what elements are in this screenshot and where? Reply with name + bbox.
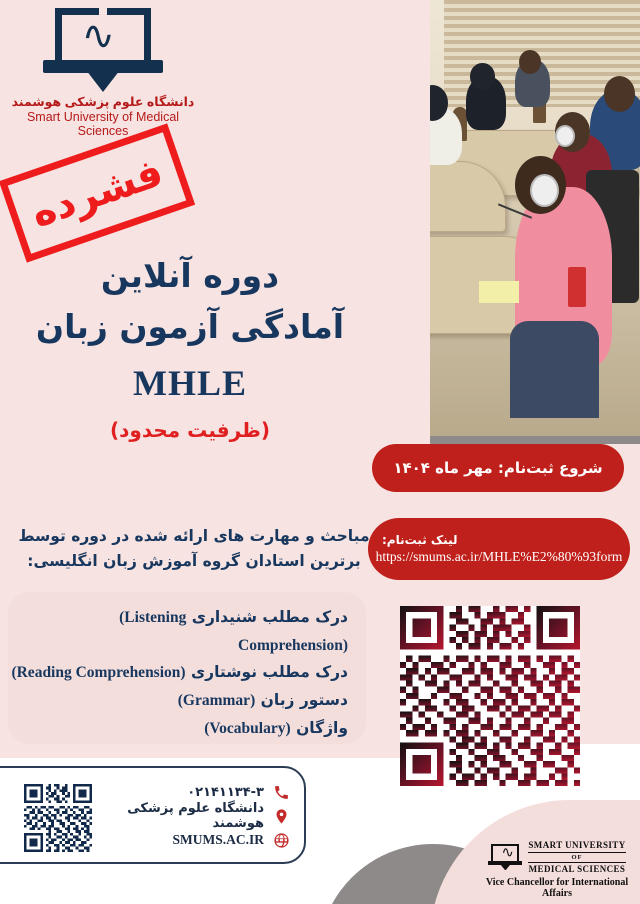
registration-start-text: شروع ثبت‌نام: مهر ماه ۱۴۰۴ [393,459,602,477]
university-logo: ∿ دانشگاه علوم پزشکی هوشمند Smart Univer… [8,8,198,138]
contact-box: ۰۲۱۴۱۱۳۴-۳ دانشگاه علوم پزشکی هوشمند SMU… [0,766,306,864]
poster-root: ∿ دانشگاه علوم پزشکی هوشمند Smart Univer… [0,0,640,904]
globe-icon [273,832,290,849]
skills-card: درک مطلب شنیداری (Listening Comprehensio… [8,592,366,744]
footer-name-line-2: MEDICAL SCIENCES [528,864,625,875]
student-head [604,76,635,112]
headline-block: دوره آنلاین آمادگی آزمون زبان MHLE (ظرفی… [0,250,380,442]
registration-url[interactable]: https://smums.ac.ir/MHLE%E2%80%93form [376,549,623,565]
skill-label-fa: واژگان [296,719,348,737]
contact-location: دانشگاه علوم پزشکی هوشمند [90,801,264,831]
skill-label-en: (Grammar) [178,692,255,709]
description-line-2: برترین استادان گروه آموزش زبان انگلیسی: [8,549,380,574]
description-line-1: مباحث و مهارت های ارائه شده در دوره توسط [8,524,380,549]
skill-label-en: (Vocabulary) [204,720,290,737]
skill-item: واژگان (Vocabulary) [8,715,348,743]
contact-website[interactable]: SMUMS.AC.IR [172,832,264,848]
registration-qr-code[interactable] [400,606,580,786]
logo-name-fa: دانشگاه علوم پزشکی هوشمند [8,94,198,109]
footer-subtitle: Vice Chancellor for International Affair… [478,877,636,899]
student-lower-body [510,321,599,419]
student-head [470,63,494,90]
headline-line-2: آمادگی آزمون زبان [0,301,380,352]
contact-phone: ۰۲۱۴۱۱۳۴-۳ [187,785,264,800]
registration-start-badge: شروع ثبت‌نام: مهر ماه ۱۴۰۴ [372,444,624,492]
registration-link-badge[interactable]: لینک ثبت‌نام: https://smums.ac.ir/MHLE%E… [368,518,630,580]
footer-logo-name: SMART UNIVERSITY OF MEDICAL SCIENCES [528,840,625,875]
badge-accent [568,267,586,307]
capacity-note: (ظرفیت محدود) [0,418,380,442]
skill-item: دستور زبان (Grammar) [8,687,348,715]
paper-sheet [479,281,519,303]
skill-label-fa: دستور زبان [261,691,348,709]
contact-rows: ۰۲۱۴۱۱۳۴-۳ دانشگاه علوم پزشکی هوشمند SMU… [90,780,290,852]
book-caduceus-icon: ∿ [488,844,522,870]
footer-logo: ∿ SMART UNIVERSITY OF MEDICAL SCIENCES V… [478,840,636,899]
book-caduceus-icon: ∿ [39,8,167,90]
contact-location-row: دانشگاه علوم پزشکی هوشمند [90,804,290,828]
footer-logo-row: ∿ SMART UNIVERSITY OF MEDICAL SCIENCES [478,840,636,875]
headset [555,125,575,147]
footer-name-line-1: SMART UNIVERSITY [528,840,625,851]
description-block: مباحث و مهارت های ارائه شده در دوره توسط… [8,524,380,574]
footer-name-of: OF [528,854,625,862]
registration-link-label: لینک ثبت‌نام: [382,533,457,547]
skill-label-fa: درک مطلب شنیداری [192,608,348,626]
skill-label-en: (Reading Comprehension) [11,664,185,681]
phone-icon [273,784,290,801]
contact-qr-code[interactable] [24,784,92,852]
location-pin-icon [273,808,290,825]
skill-item: درک مطلب نوشتاری (Reading Comprehension) [8,659,348,687]
headline-line-1: دوره آنلاین [0,250,380,301]
skill-item: درک مطلب شنیداری (Listening Comprehensio… [8,604,348,659]
contact-website-row[interactable]: SMUMS.AC.IR [90,828,290,852]
headline-exam-name: MHLE [0,362,380,404]
skill-label-fa: درک مطلب نوشتاری [191,663,348,681]
